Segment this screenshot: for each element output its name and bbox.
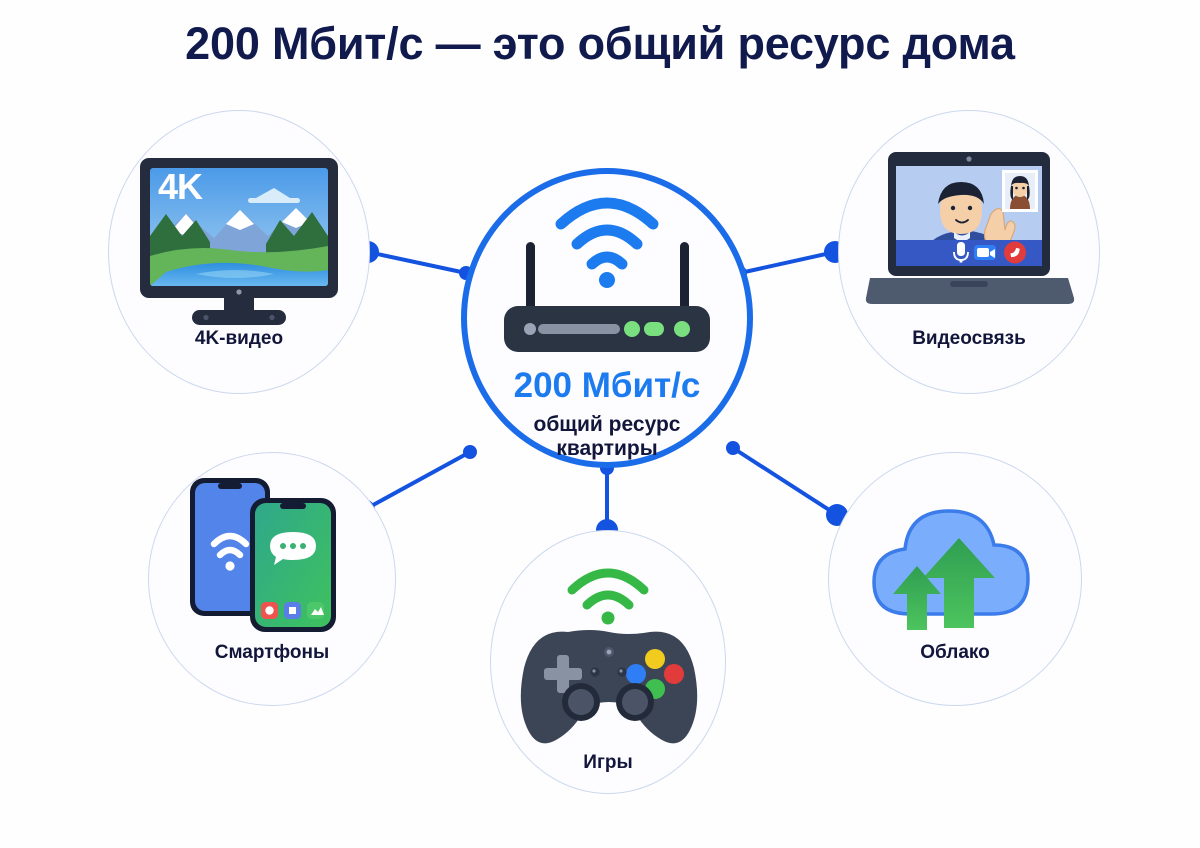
router-led-1 [624, 321, 640, 337]
hub-speed-value: 200 Мбит/с [461, 366, 753, 406]
node-label-video4k: 4K-видео [108, 328, 370, 350]
tv-icon: 4K [136, 152, 342, 338]
cloud-upload-icon [864, 490, 1050, 630]
laptop-video-call-icon [860, 148, 1078, 328]
node-video4k[interactable]: 4K 4K-видео [108, 110, 370, 394]
tv-4k-badge: 4K [158, 166, 202, 208]
node-label-videocall: Видеосвязь [838, 328, 1100, 350]
node-games[interactable]: Игры [490, 530, 726, 794]
connector-line-videocall [740, 252, 835, 273]
router-power-led [524, 323, 536, 335]
gamepad-icon [518, 626, 700, 746]
page-title: 200 Мбит/с — это общий ресурс дома [0, 18, 1200, 70]
node-label-phones: Смартфоны [148, 642, 396, 664]
router-led-3 [674, 321, 690, 337]
smartphones-icon [188, 476, 360, 634]
wifi-router-icon [492, 196, 722, 356]
wifi-dot [599, 272, 615, 288]
connector-line-video4k [368, 252, 466, 273]
node-label-games: Игры [490, 752, 726, 774]
hub-subtitle-line2: квартиры [461, 437, 753, 461]
wifi-arcs [561, 203, 653, 264]
infographic-canvas: 200 Мбит/с — это общий ресурс дома [0, 0, 1200, 848]
node-label-cloud: Облако [828, 642, 1082, 664]
wifi-green-icon [562, 566, 654, 624]
hub-subtitle: общий ресурс квартиры [461, 413, 753, 462]
node-videocall[interactable]: Видеосвязь [838, 110, 1100, 394]
node-phones[interactable]: Смартфоны [148, 452, 396, 706]
node-center-hub[interactable]: 200 Мбит/с общий ресурс квартиры [461, 168, 753, 468]
hub-subtitle-line1: общий ресурс [461, 413, 753, 437]
node-cloud[interactable]: Облако [828, 452, 1082, 706]
